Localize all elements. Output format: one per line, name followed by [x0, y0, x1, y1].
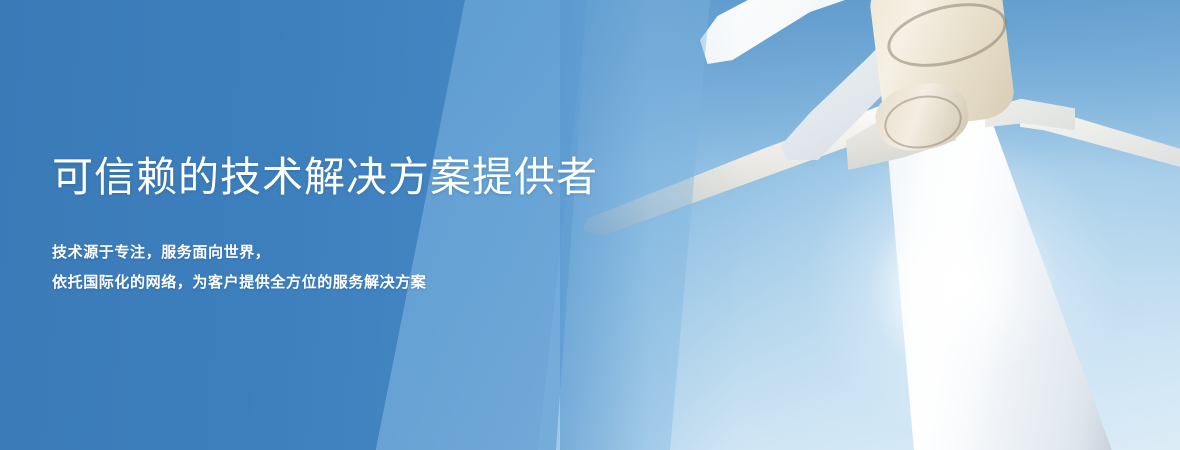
banner-copy: 可信赖的技术解决方案提供者 技术源于专注，服务面向世界， 依托国际化的网络，为客…: [52, 150, 598, 298]
banner-headline: 可信赖的技术解决方案提供者: [52, 150, 598, 204]
banner-subtitle-line-2: 依托国际化的网络，为客户提供全方位的服务解决方案: [52, 268, 598, 298]
hero-banner: 可信赖的技术解决方案提供者 技术源于专注，服务面向世界， 依托国际化的网络，为客…: [0, 0, 1180, 450]
sun-flare-icon: [952, 275, 974, 297]
banner-subtitle: 技术源于专注，服务面向世界， 依托国际化的网络，为客户提供全方位的服务解决方案: [52, 238, 598, 298]
banner-subtitle-line-1: 技术源于专注，服务面向世界，: [52, 238, 598, 268]
